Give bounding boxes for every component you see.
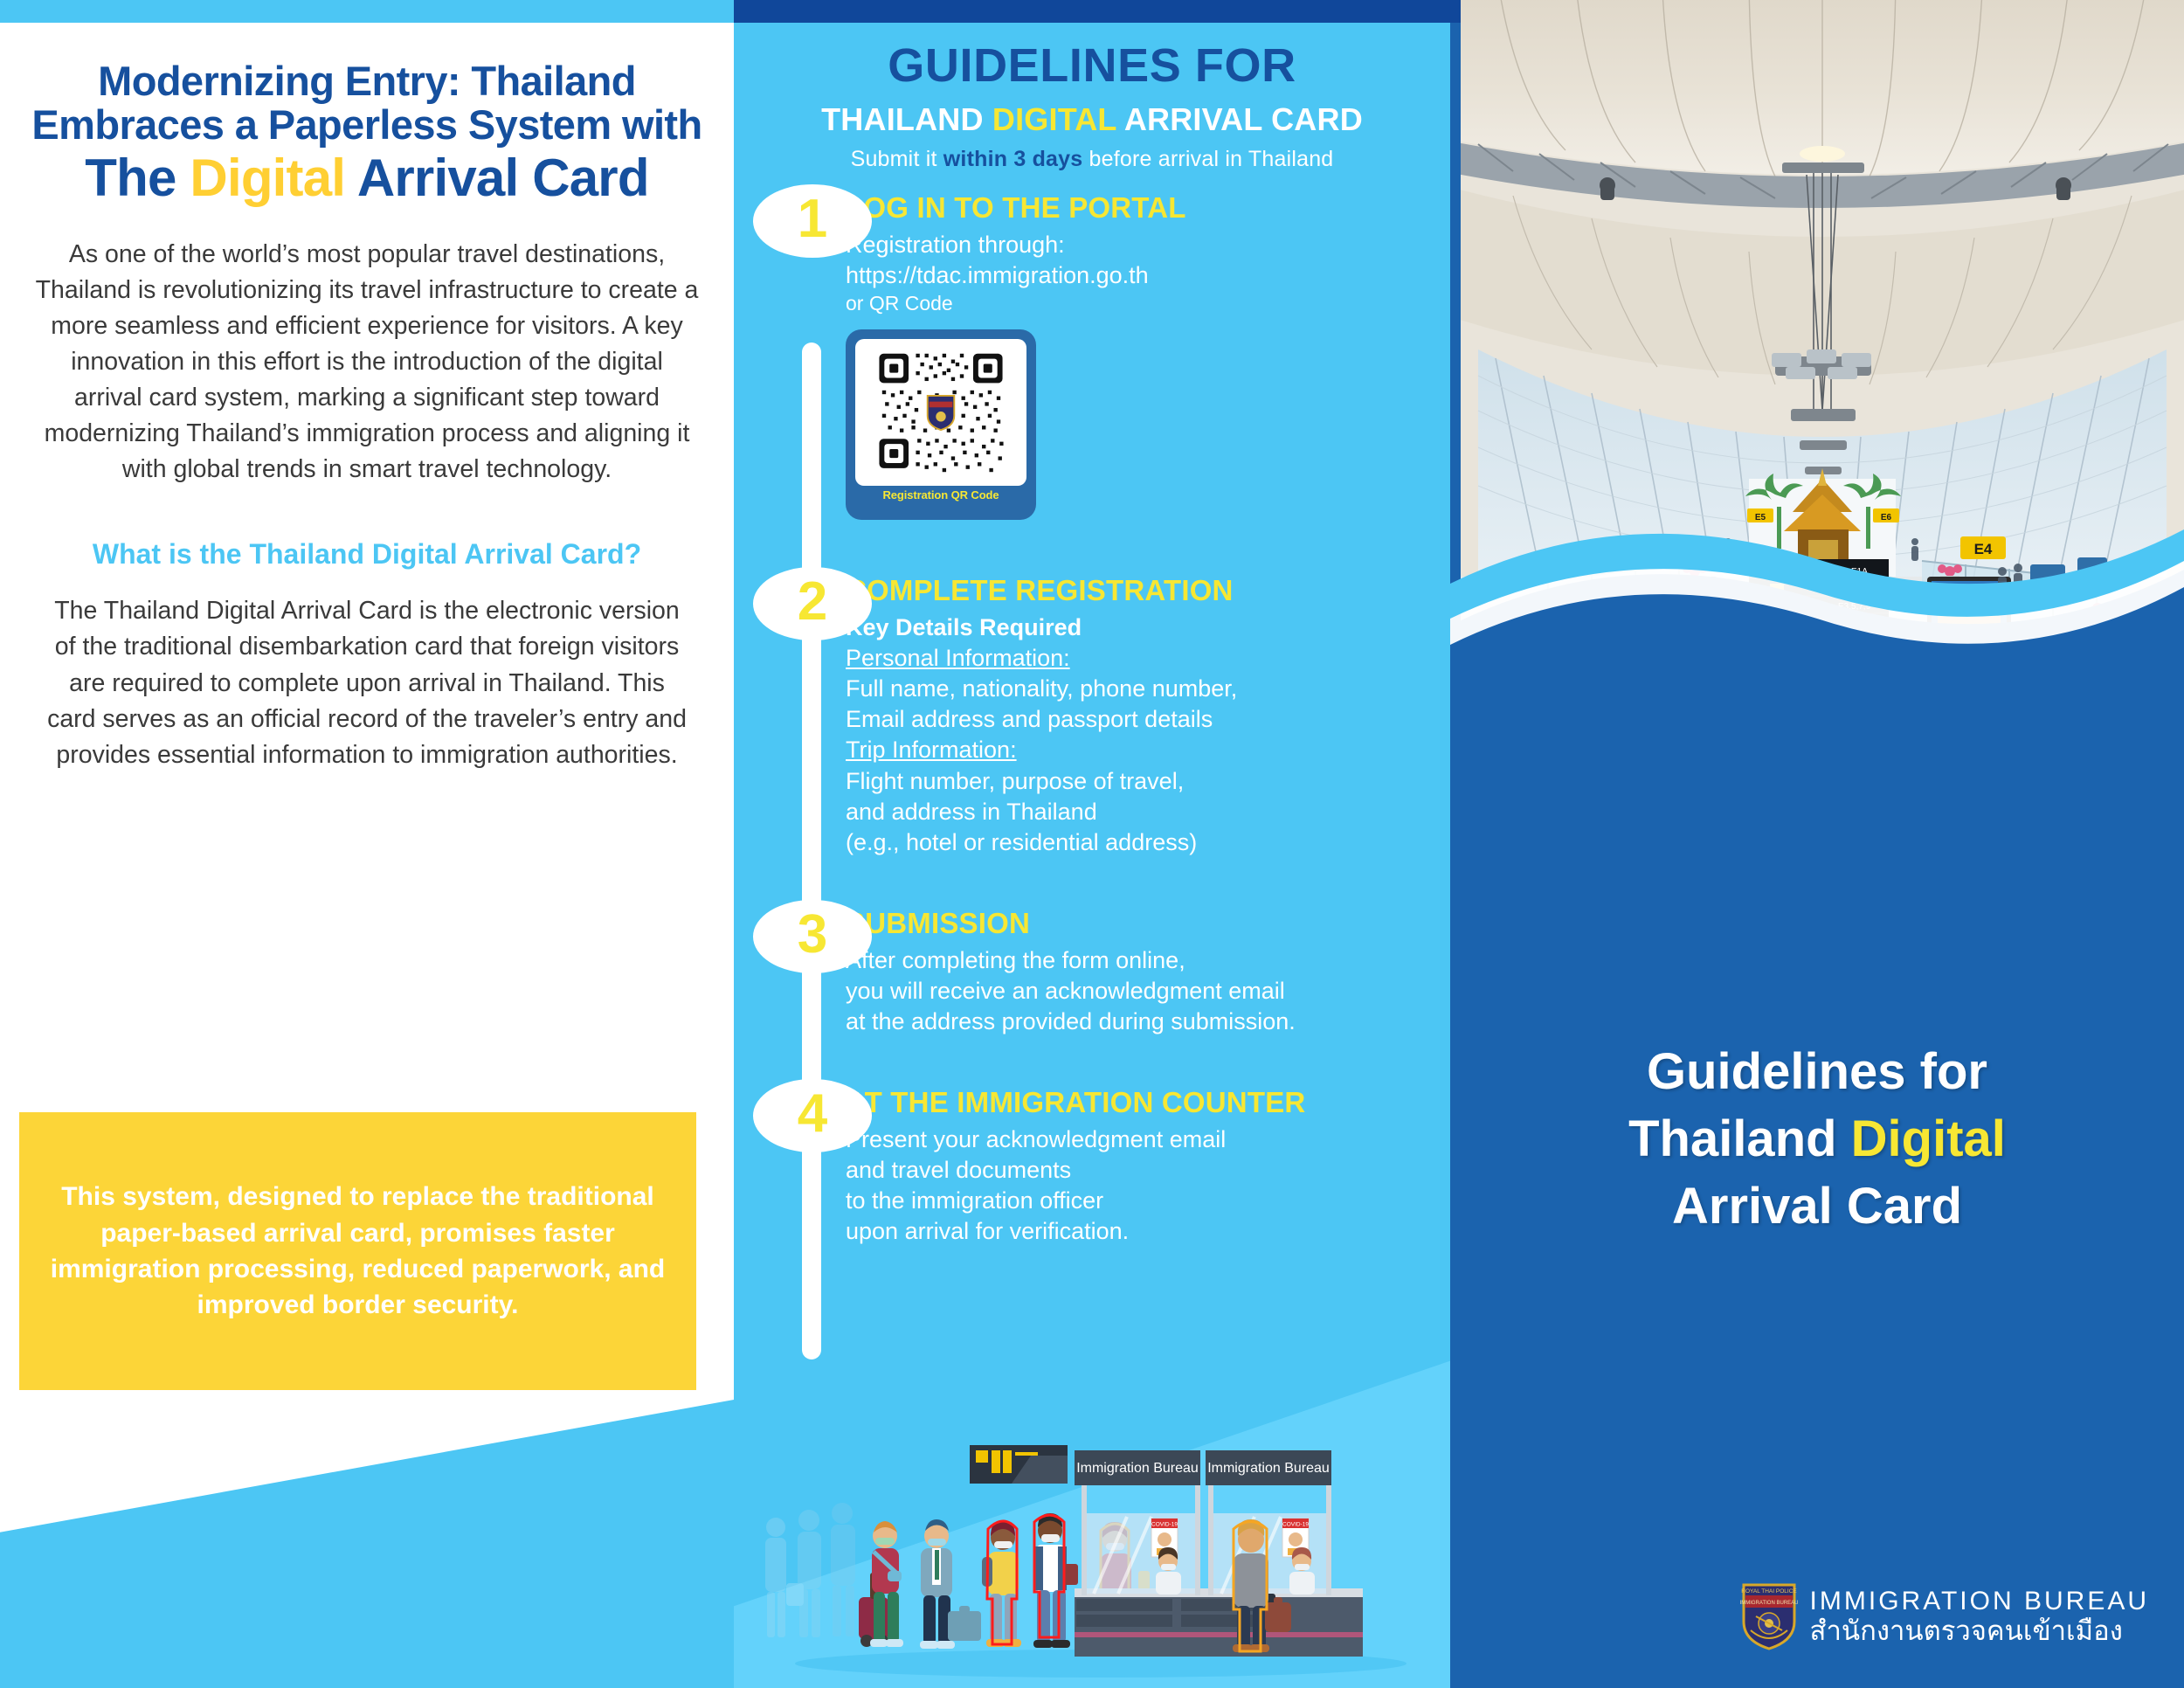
definition-paragraph: The Thailand Digital Arrival Card is the… [16, 593, 718, 772]
center-panel: GUIDELINES FOR THAILAND DIGITAL ARRIVAL … [734, 0, 1450, 1688]
headline-highlight-digital: Digital [190, 149, 345, 207]
guidelines-header: GUIDELINES FOR THAILAND DIGITAL ARRIVAL … [734, 0, 1450, 172]
step-2-trip-line-1: Flight number, purpose of travel, [846, 766, 1431, 797]
svg-text:ROYAL THAI POLICE: ROYAL THAI POLICE [1741, 1588, 1797, 1595]
step-4-line-2: and travel documents [846, 1155, 1431, 1186]
immigration-bureau-logo: ROYAL THAI POLICE IMMIGRATION BUREAU IMM… [1740, 1581, 2149, 1651]
traveler-1 [859, 1521, 903, 1647]
immigration-queue-illustration: Immigration Bureau Immigration Bureau CO… [734, 1426, 1450, 1688]
logo-layer: ROYAL THAI POLICE IMMIGRATION BUREAU IMM… [1450, 0, 2184, 1688]
qr-code-label: Registration QR Code [855, 488, 1026, 502]
headline-line-3-b: Arrival Card [345, 149, 649, 207]
deadline-part-b: before arrival in Thailand [1082, 147, 1333, 171]
counter-sign-1-label: Immigration Bureau [1076, 1461, 1199, 1476]
deadline-bold: within 3 days [943, 147, 1083, 171]
step-2-personal-line-2: Email address and passport details [846, 704, 1431, 735]
step-2-trip-line-3: (e.g., hotel or residential address) [846, 827, 1431, 858]
step-4-number: 4 [798, 1087, 827, 1141]
subtitle-part-b: ARRIVAL CARD [1116, 101, 1363, 137]
headline-line-3: The Digital Arrival Card [16, 150, 718, 206]
registration-qr-card[interactable]: Registration QR Code [846, 329, 1036, 520]
traveler-3 [982, 1520, 1021, 1647]
section-heading-what-is: What is the Thailand Digital Arrival Car… [16, 538, 718, 571]
headline-line-1: Modernizing Entry: Thailand [16, 59, 718, 103]
steps-list: 1 LOG IN TO THE PORTAL Registration thro… [734, 191, 1450, 1247]
background-crowd [765, 1503, 855, 1637]
step-3-title: SUBMISSION [846, 907, 1431, 940]
step-2-number: 2 [798, 575, 827, 629]
callout-box: This system, designed to replace the tra… [19, 1112, 696, 1390]
headline-line-2: Embraces a Paperless System with [16, 103, 718, 147]
step-2-title: COMPLETE REGISTRATION [846, 574, 1431, 607]
step-3-body: After completing the form online, you wi… [846, 945, 1431, 1037]
deadline-part-a: Submit it [851, 147, 943, 171]
traveler-2 [920, 1519, 981, 1649]
step-1: 1 LOG IN TO THE PORTAL Registration thro… [734, 191, 1450, 520]
step-1-body: Registration through: https://tdac.immig… [846, 230, 1431, 317]
counter-sign-2-label: Immigration Bureau [1207, 1461, 1330, 1476]
step-3: 3 SUBMISSION After completing the form o… [734, 907, 1450, 1037]
guidelines-title: GUIDELINES FOR [734, 38, 1450, 93]
briefcase-icon [1265, 1602, 1291, 1632]
royal-thai-police-crest-icon: ROYAL THAI POLICE IMMIGRATION BUREAU [1740, 1581, 1798, 1651]
step-3-line-1: After completing the form online, [846, 945, 1431, 976]
step-4-line-1: Present your acknowledgment email [846, 1124, 1431, 1155]
step-1-number: 1 [798, 192, 827, 246]
step-2-personal-info-label: Personal Information: [846, 645, 1070, 671]
logo-english-name: IMMIGRATION BUREAU [1810, 1588, 2149, 1615]
step-1-title: LOG IN TO THE PORTAL [846, 191, 1431, 225]
step-1-line-3: or QR Code [846, 291, 1431, 317]
step-2-trip-line-2: and address in Thailand [846, 797, 1431, 827]
step-4-title: AT THE IMMIGRATION COUNTER [846, 1086, 1431, 1119]
traveler-4 [1033, 1513, 1078, 1648]
main-headline: Modernizing Entry: Thailand Embraces a P… [16, 59, 718, 205]
step-2: 2 COMPLETE REGISTRATION Key Details Requ… [734, 574, 1450, 858]
step-4-line-3: to the immigration officer [846, 1186, 1431, 1216]
step-3-line-3: at the address provided during submissio… [846, 1007, 1431, 1037]
step-2-number-badge: 2 [753, 567, 872, 640]
headline-line-3-a: The [85, 149, 190, 207]
step-3-number: 3 [798, 908, 827, 962]
step-4: 4 AT THE IMMIGRATION COUNTER Present you… [734, 1086, 1450, 1247]
step-2-body: Key Details Required Personal Informatio… [846, 612, 1431, 858]
step-2-trip-info-label: Trip Information: [846, 737, 1017, 763]
brochure-page: Modernizing Entry: Thailand Embraces a P… [0, 0, 2184, 1688]
svg-text:COVID-19: COVID-19 [1282, 1522, 1309, 1528]
step-3-line-2: you will receive an acknowledgment email [846, 976, 1431, 1007]
immigration-counters: Immigration Bureau Immigration Bureau CO… [970, 1445, 1363, 1657]
svg-text:COVID-19: COVID-19 [1151, 1522, 1178, 1528]
subtitle-highlight-digital: DIGITAL [992, 101, 1116, 137]
step-3-number-badge: 3 [753, 900, 872, 973]
intro-paragraph: As one of the world’s most popular trave… [16, 237, 718, 488]
step-1-line-1: Registration through: [846, 230, 1431, 260]
logo-thai-name: สำนักงานตรวจคนเข้าเมือง [1810, 1617, 2149, 1644]
step-1-number-badge: 1 [753, 184, 872, 258]
step-4-number-badge: 4 [753, 1079, 872, 1152]
step-2-key-details-label: Key Details Required [846, 614, 1082, 640]
subtitle-part-a: THAILAND [821, 101, 992, 137]
step-4-line-4: upon arrival for verification. [846, 1216, 1431, 1247]
logo-text-block: IMMIGRATION BUREAU สำนักงานตรวจคนเข้าเมื… [1810, 1588, 2149, 1644]
police-crest-icon [925, 394, 957, 431]
svg-text:IMMIGRATION BUREAU: IMMIGRATION BUREAU [1740, 1601, 1798, 1606]
step-4-body: Present your acknowledgment email and tr… [846, 1124, 1431, 1247]
guidelines-subtitle: THAILAND DIGITAL ARRIVAL CARD [734, 101, 1450, 138]
step-1-portal-url[interactable]: https://tdac.immigration.go.th [846, 260, 1431, 291]
left-content: Modernizing Entry: Thailand Embraces a P… [0, 0, 734, 773]
left-panel: Modernizing Entry: Thailand Embraces a P… [0, 0, 734, 1688]
submit-deadline-note: Submit it within 3 days before arrival i… [734, 147, 1450, 172]
step-2-personal-line-1: Full name, nationality, phone number, [846, 674, 1431, 704]
qr-code-image[interactable] [855, 339, 1026, 486]
callout-text: This system, designed to replace the tra… [19, 1179, 696, 1324]
